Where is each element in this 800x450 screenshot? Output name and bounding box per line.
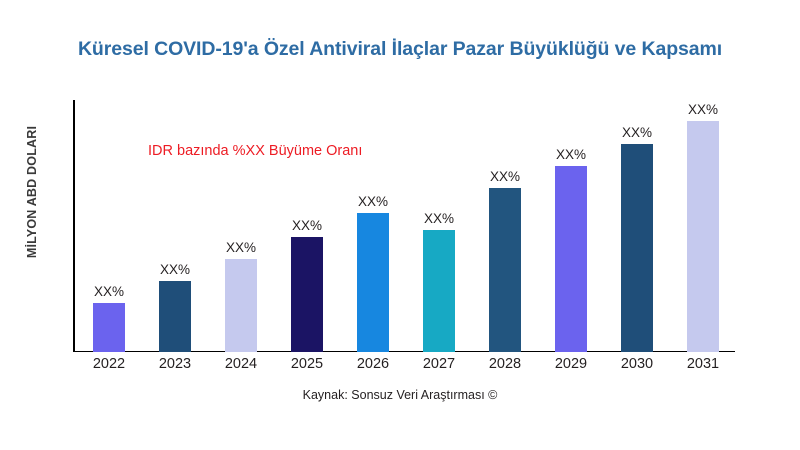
bar-rect-2025[interactable] (291, 237, 323, 352)
bar-rect-2024[interactable] (225, 259, 257, 352)
bar-2022[interactable]: XX% (76, 100, 142, 352)
x-tick-2030: 2030 (604, 356, 670, 372)
bar-value-label-2024: XX% (208, 240, 274, 255)
x-tick-2023: 2023 (142, 356, 208, 372)
bar-rect-2031[interactable] (687, 121, 719, 352)
y-axis-title: MİLYON ABD DOLARI (25, 92, 39, 292)
bar-2023[interactable]: XX% (142, 100, 208, 352)
bar-chart: Küresel COVID-19'a Özel Antiviral İlaçla… (0, 0, 800, 450)
x-tick-2022: 2022 (76, 356, 142, 372)
x-tick-2031: 2031 (670, 356, 736, 372)
chart-title: Küresel COVID-19'a Özel Antiviral İlaçla… (0, 38, 800, 61)
bar-value-label-2029: XX% (538, 147, 604, 162)
bar-value-label-2028: XX% (472, 169, 538, 184)
bar-2030[interactable]: XX% (604, 100, 670, 352)
x-tick-2028: 2028 (472, 356, 538, 372)
x-tick-2026: 2026 (340, 356, 406, 372)
bar-rect-2029[interactable] (555, 166, 587, 352)
bar-value-label-2027: XX% (406, 211, 472, 226)
bar-rect-2028[interactable] (489, 188, 521, 352)
bar-rect-2026[interactable] (357, 213, 389, 352)
bar-rect-2030[interactable] (621, 144, 653, 352)
bar-value-label-2030: XX% (604, 125, 670, 140)
bar-rect-2027[interactable] (423, 230, 455, 352)
bar-2028[interactable]: XX% (472, 100, 538, 352)
x-tick-2027: 2027 (406, 356, 472, 372)
x-axis-tick-labels: 2022202320242025202620272028202920302031 (73, 356, 785, 380)
bar-2026[interactable]: XX% (340, 100, 406, 352)
bar-2031[interactable]: XX% (670, 100, 736, 352)
bar-2029[interactable]: XX% (538, 100, 604, 352)
bar-value-label-2031: XX% (670, 102, 736, 117)
source-caption: Kaynak: Sonsuz Veri Araştırması © (0, 388, 800, 402)
bar-2024[interactable]: XX% (208, 100, 274, 352)
bar-value-label-2025: XX% (274, 218, 340, 233)
bar-value-label-2023: XX% (142, 262, 208, 277)
bar-value-label-2022: XX% (76, 284, 142, 299)
x-tick-2029: 2029 (538, 356, 604, 372)
bar-rect-2022[interactable] (93, 303, 125, 352)
bar-rect-2023[interactable] (159, 281, 191, 352)
x-tick-2024: 2024 (208, 356, 274, 372)
plot-area: XX%XX%XX%XX%XX%XX%XX%XX%XX%XX% (73, 100, 785, 352)
bar-value-label-2026: XX% (340, 194, 406, 209)
bar-2027[interactable]: XX% (406, 100, 472, 352)
x-tick-2025: 2025 (274, 356, 340, 372)
bar-2025[interactable]: XX% (274, 100, 340, 352)
